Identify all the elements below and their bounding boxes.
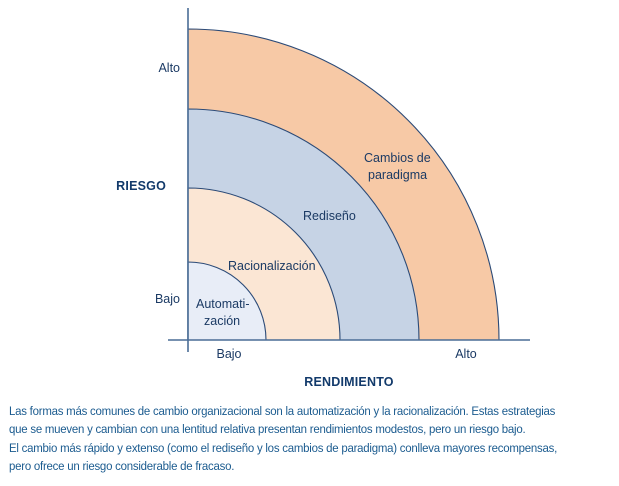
band-label-cambios-de-paradigma-line2: paradigma [368, 168, 427, 182]
band-label-automatizacion-line2: zación [204, 314, 240, 328]
x-axis-title: RENDIMIENTO [304, 375, 394, 389]
y-tick-label-bajo: Bajo [155, 292, 180, 306]
band-label-rediseno: Rediseño [303, 209, 356, 223]
risk-reward-quadrant-chart: Alto Bajo RIESGO Bajo Alto RENDIMIENTO A… [0, 0, 619, 400]
band-label-racionalizacion: Racionalización [228, 259, 316, 273]
band-label-cambios-de-paradigma-line1: Cambios de [364, 151, 431, 165]
band-label-automatizacion-line1: Automati- [196, 297, 250, 311]
caption-line-2: que se mueven y cambian con una lentitud… [9, 420, 571, 438]
y-axis-title: RIESGO [116, 179, 166, 193]
caption-line-1: Las formas más comunes de cambio organiz… [9, 402, 571, 420]
caption-line-3: El cambio más rápido y extenso (como el … [9, 439, 571, 457]
figure-caption: Las formas más comunes de cambio organiz… [9, 402, 571, 476]
caption-line-4: pero ofrece un riesgo considerable de fr… [9, 457, 571, 475]
x-tick-label-alto: Alto [455, 347, 477, 361]
y-tick-label-alto: Alto [158, 61, 180, 75]
x-tick-label-bajo: Bajo [216, 347, 241, 361]
